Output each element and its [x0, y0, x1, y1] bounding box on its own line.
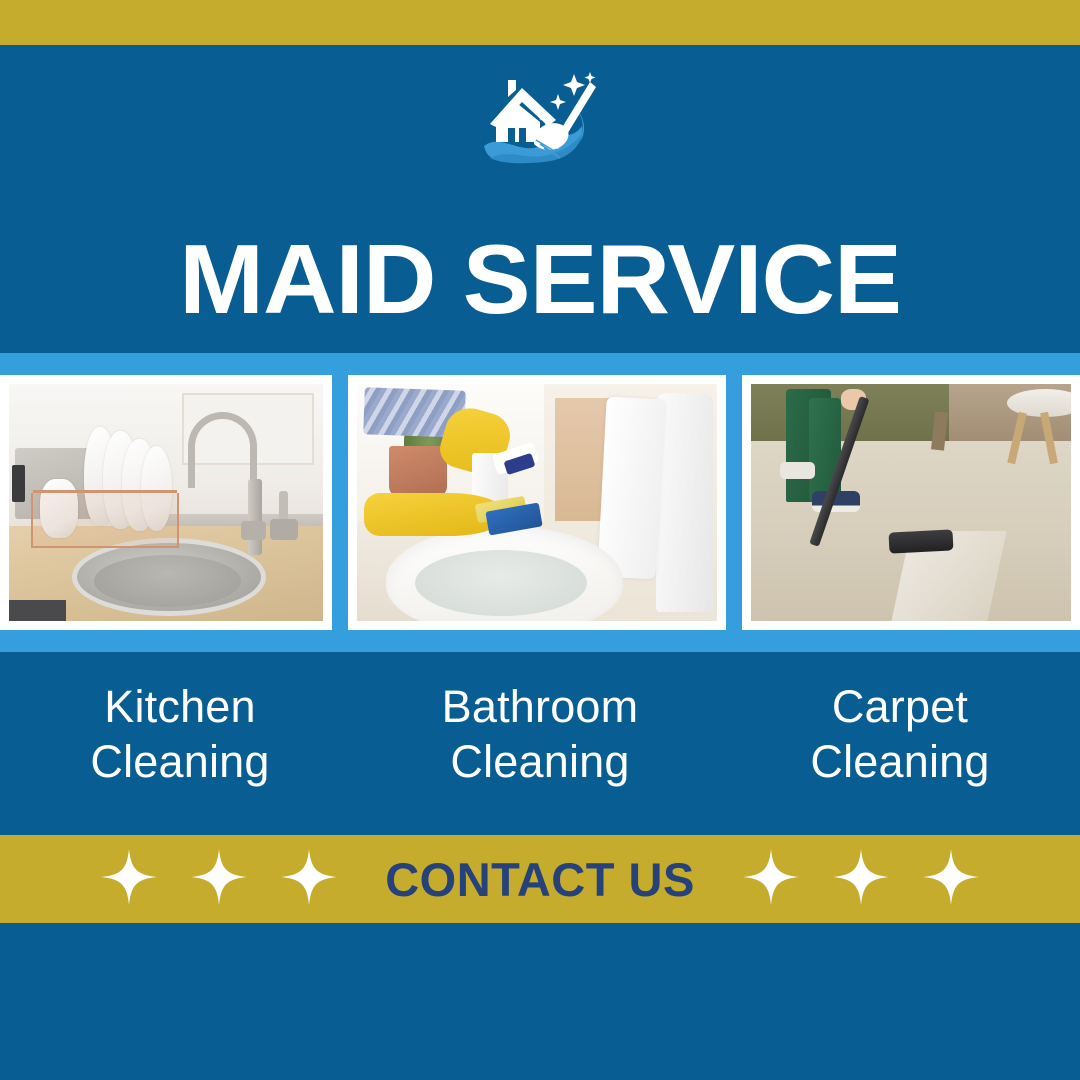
page-title: MAID SERVICE [179, 230, 901, 328]
service-label-carpet: Carpet Cleaning [720, 662, 1080, 832]
four-point-sparkle-icon [833, 849, 889, 910]
service-labels-row: Kitchen Cleaning Bathroom Cleaning Carpe… [0, 662, 1080, 832]
service-label-kitchen-line2: Cleaning [90, 735, 269, 790]
person-vacuuming-carpet-photo [751, 384, 1071, 621]
headline-block: MAID SERVICE [0, 216, 1080, 341]
service-photo-card-kitchen[interactable] [0, 375, 332, 630]
top-gold-strip [0, 0, 1080, 45]
contact-us-bar[interactable]: CONTACT US [0, 835, 1080, 923]
house-broom-sparkle-logo-icon [478, 66, 602, 166]
four-point-sparkle-icon [191, 849, 247, 910]
service-label-bathroom: Bathroom Cleaning [360, 662, 720, 832]
service-label-carpet-line1: Carpet [832, 680, 968, 735]
four-point-sparkle-icon [923, 849, 979, 910]
gloved-hands-cleaning-toilet-photo [357, 384, 717, 621]
four-point-sparkle-icon [281, 849, 337, 910]
service-label-carpet-line2: Cleaning [810, 735, 989, 790]
maid-service-poster: MAID SERVICE [0, 0, 1080, 1080]
service-label-kitchen-line1: Kitchen [104, 680, 256, 735]
four-point-sparkle-icon [101, 849, 157, 910]
brand-logo [0, 62, 1080, 170]
four-point-sparkle-icon [743, 849, 799, 910]
service-photo-row [0, 375, 1080, 630]
kitchen-sink-with-dish-rack-photo [9, 384, 323, 621]
sparkle-group-left [101, 849, 337, 910]
service-photo-card-carpet[interactable] [742, 375, 1080, 630]
service-label-bathroom-line2: Cleaning [450, 735, 629, 790]
sparkle-group-right [743, 849, 979, 910]
service-photo-card-bathroom[interactable] [348, 375, 726, 630]
contact-us-label[interactable]: CONTACT US [385, 852, 695, 907]
service-label-bathroom-line1: Bathroom [442, 680, 639, 735]
service-label-kitchen: Kitchen Cleaning [0, 662, 360, 832]
